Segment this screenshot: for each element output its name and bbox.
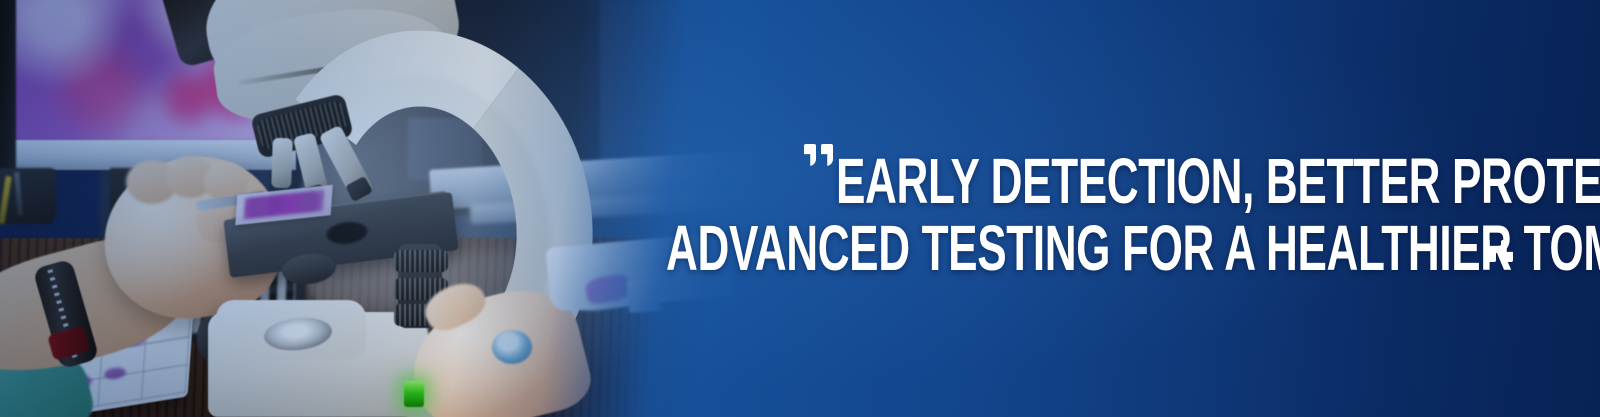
headline-quote-block: Early Detection, Better Protection Advan… bbox=[790, 132, 1530, 292]
objective-lens bbox=[271, 138, 293, 189]
coarse-focus-knob bbox=[394, 250, 448, 272]
microscope-base-button bbox=[492, 330, 532, 364]
hero-banner: Early Detection, Better Protection Advan… bbox=[0, 0, 1600, 417]
close-quote-icon bbox=[1484, 240, 1496, 262]
headline-line-2: Advanced Testing For A Healthier Tomorro… bbox=[666, 217, 1600, 281]
monitor-left-edge bbox=[0, 0, 16, 176]
headline-line-1: Early Detection, Better Protection bbox=[836, 150, 1600, 214]
open-quote-icon bbox=[804, 144, 816, 166]
microscope-power-led bbox=[404, 381, 424, 407]
small-desk-object bbox=[627, 279, 661, 313]
